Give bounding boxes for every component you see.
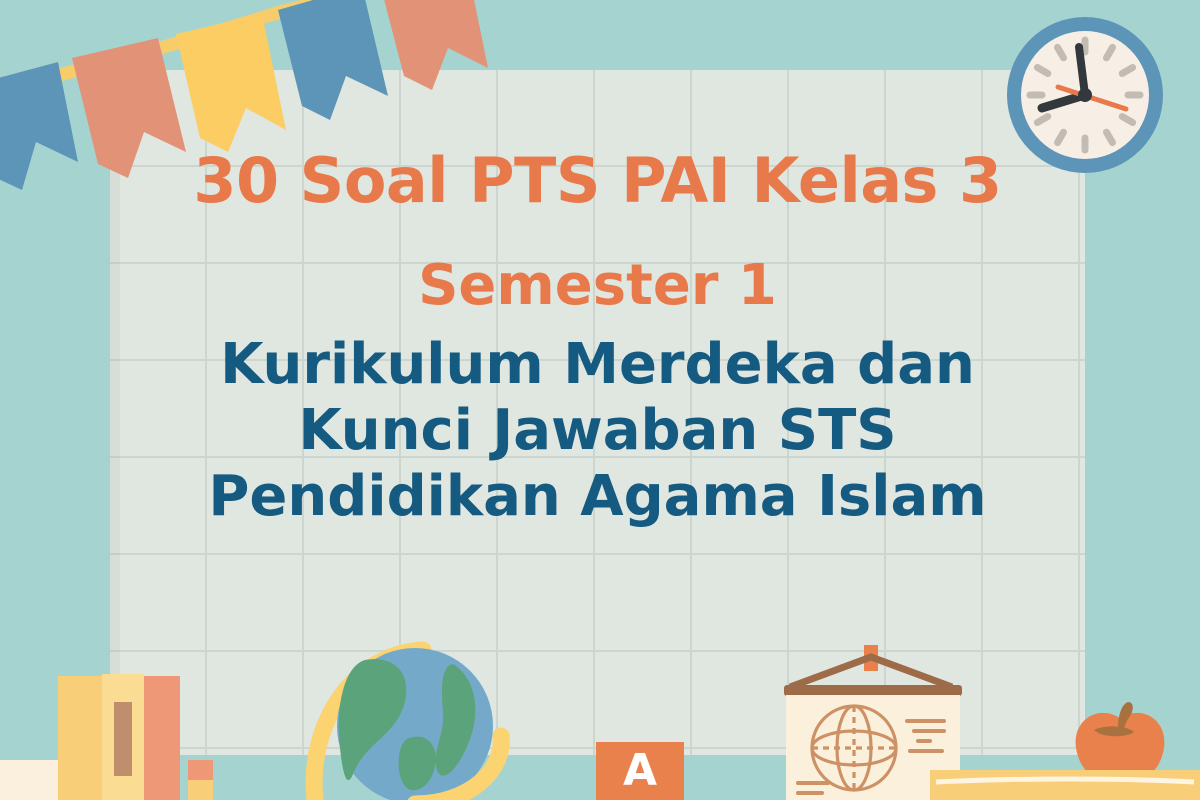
title-line-2: Semester 1 bbox=[110, 258, 1085, 314]
title-line-1: 30 Soal PTS PAI Kelas 3 bbox=[110, 150, 1085, 212]
yellow-book-cover bbox=[930, 770, 1200, 800]
chart-rod bbox=[784, 685, 962, 696]
bunting-flag-1 bbox=[0, 62, 78, 190]
stacked-books-left bbox=[38, 668, 213, 800]
title-line-5: Pendidikan Agama Islam bbox=[110, 464, 1085, 530]
title-line-3: Kurikulum Merdeka dan bbox=[110, 332, 1085, 398]
title-line-4: Kunci Jawaban STS bbox=[110, 398, 1085, 464]
bunting-flag-5 bbox=[380, 0, 488, 90]
yellow-book-desk bbox=[930, 768, 1200, 800]
clock-center-pin bbox=[1078, 88, 1092, 102]
book-spine-3 bbox=[144, 676, 180, 800]
book-lying-1 bbox=[188, 760, 213, 780]
poster-canvas: 30 Soal PTS PAI Kelas 3 Semester 1 Kurik… bbox=[0, 0, 1200, 800]
poster-title-group: 30 Soal PTS PAI Kelas 3 Semester 1 Kurik… bbox=[110, 150, 1085, 530]
book-spine-1 bbox=[58, 676, 102, 800]
bunting-flag-3 bbox=[176, 14, 286, 152]
book-label bbox=[114, 702, 132, 776]
book-lying-2 bbox=[188, 780, 213, 800]
alphabet-block-a[interactable]: A bbox=[596, 742, 684, 800]
bunting-flag-4 bbox=[278, 0, 388, 120]
subtitle-group: Kurikulum Merdeka dan Kunci Jawaban STS … bbox=[110, 332, 1085, 530]
globe bbox=[305, 640, 535, 800]
